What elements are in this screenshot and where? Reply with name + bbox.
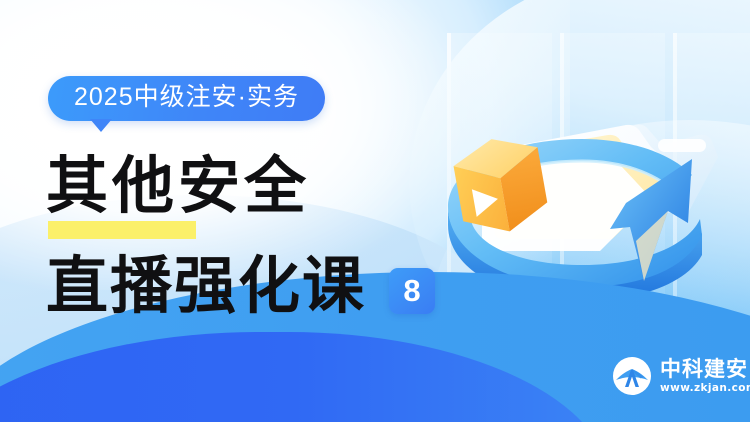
lesson-number-badge: 8 <box>389 268 435 314</box>
title-highlight-bar <box>48 221 196 239</box>
brand-mark-icon <box>612 356 652 396</box>
course-tag-label: 2025中级注安·实务 <box>74 83 299 111</box>
course-title-line1: 其他安全 <box>46 155 310 217</box>
course-title-line2: 直播强化课 <box>46 255 366 317</box>
brand-name: 中科建安 <box>660 358 750 380</box>
course-banner: 2025中级注安·实务 其他安全 直播强化课 8 中科建安 www.zkjan.… <box>0 0 750 422</box>
brand-url: www.zkjan.com <box>660 383 750 394</box>
course-tag-bubble: 2025中级注安·实务 <box>48 76 325 121</box>
bubble-tail <box>90 119 112 132</box>
brand-logo-text: 中科建安 www.zkjan.com <box>660 358 750 394</box>
brand-logo[interactable]: 中科建安 www.zkjan.com <box>612 356 750 396</box>
